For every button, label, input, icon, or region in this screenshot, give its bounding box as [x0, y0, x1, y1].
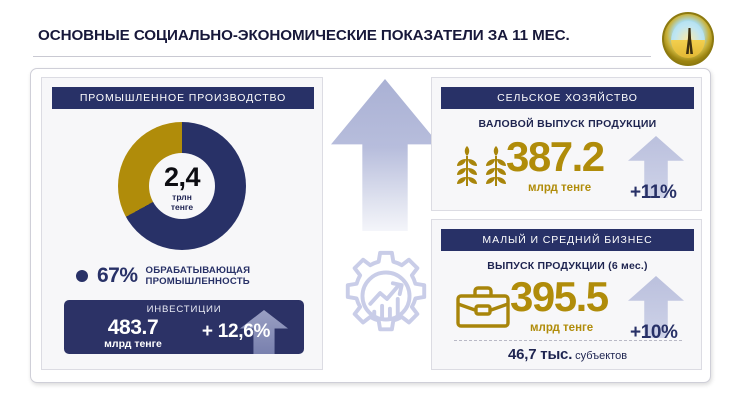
smb-value: 395.5 [510, 276, 608, 318]
small-medium-business-panel: МАЛЫЙ И СРЕДНИЙ БИЗНЕС ВЫПУСК ПРОДУКЦИИ … [431, 219, 702, 370]
investments-value: 483.7 [78, 316, 188, 340]
legend-percent: 67% [97, 264, 138, 288]
donut-unit-line2: тенге [171, 202, 193, 212]
donut-unit: трлн тенге [118, 192, 246, 212]
title-divider [33, 56, 651, 57]
state-emblem [662, 12, 714, 66]
agriculture-unit: млрд тенге [528, 182, 591, 194]
donut-value: 2,4 [118, 162, 246, 193]
legend-label-line2: ПРОМЫШЛЕННОСТЬ [146, 276, 250, 287]
industrial-production-header: ПРОМЫШЛЕННОЕ ПРОИЗВОДСТВО [52, 87, 314, 109]
smb-header: МАЛЫЙ И СРЕДНИЙ БИЗНЕС [441, 229, 694, 251]
legend-label: ОБРАБАТЫВАЮЩАЯ ПРОМЫШЛЕННОСТЬ [146, 265, 251, 287]
wheat-icon [454, 144, 510, 188]
agriculture-subtitle: ВАЛОВОЙ ВЫПУСК ПРОДУКЦИИ [432, 118, 703, 130]
smb-subtitle: ВЫПУСК ПРОДУКЦИИ (6 мес.) [432, 260, 703, 272]
growth-arrow-icon [331, 79, 439, 231]
agriculture-value: 387.2 [506, 136, 604, 178]
briefcase-icon [454, 284, 512, 330]
legend-label-line1: ОБРАБАТЫВАЮЩАЯ [146, 265, 251, 276]
agriculture-delta: +11% [630, 182, 676, 204]
gear-chart-icon [337, 247, 435, 345]
investments-delta: + 12,6% [188, 321, 284, 343]
dashboard-card: ПРОМЫШЛЕННОЕ ПРОИЗВОДСТВО 2,4 трлн тенге… [30, 68, 711, 383]
donut-unit-line1: трлн [172, 192, 192, 202]
smb-footer-value: 46,7 тыс. [508, 346, 572, 363]
industry-donut-chart: 2,4 трлн тенге [118, 122, 246, 250]
industry-legend: 67% ОБРАБАТЫВАЮЩАЯ ПРОМЫШЛЕННОСТЬ [76, 264, 306, 288]
smb-divider [454, 340, 682, 341]
smb-unit: млрд тенге [530, 322, 593, 334]
industrial-production-panel: ПРОМЫШЛЕННОЕ ПРОИЗВОДСТВО 2,4 трлн тенге… [41, 77, 323, 370]
agriculture-panel: СЕЛЬСКОЕ ХОЗЯЙСТВО ВАЛОВОЙ ВЫПУСК ПРОДУК… [431, 77, 702, 211]
page-header: ОСНОВНЫЕ СОЦИАЛЬНО-ЭКОНОМИЧЕСКИЕ ПОКАЗАТ… [0, 0, 740, 66]
investments-title: ИНВЕСТИЦИИ [64, 304, 304, 315]
agriculture-header: СЕЛЬСКОЕ ХОЗЯЙСТВО [441, 87, 694, 109]
smb-footer-label: субъектов [575, 350, 627, 362]
page-title: ОСНОВНЫЕ СОЦИАЛЬНО-ЭКОНОМИЧЕСКИЕ ПОКАЗАТ… [38, 27, 570, 44]
investments-unit: млрд тенге [78, 338, 188, 350]
smb-footer: 46,7 тыс.субъектов [432, 346, 703, 364]
investments-box: ИНВЕСТИЦИИ 483.7 млрд тенге + 12,6% [64, 300, 304, 354]
legend-dot-icon [76, 270, 88, 282]
